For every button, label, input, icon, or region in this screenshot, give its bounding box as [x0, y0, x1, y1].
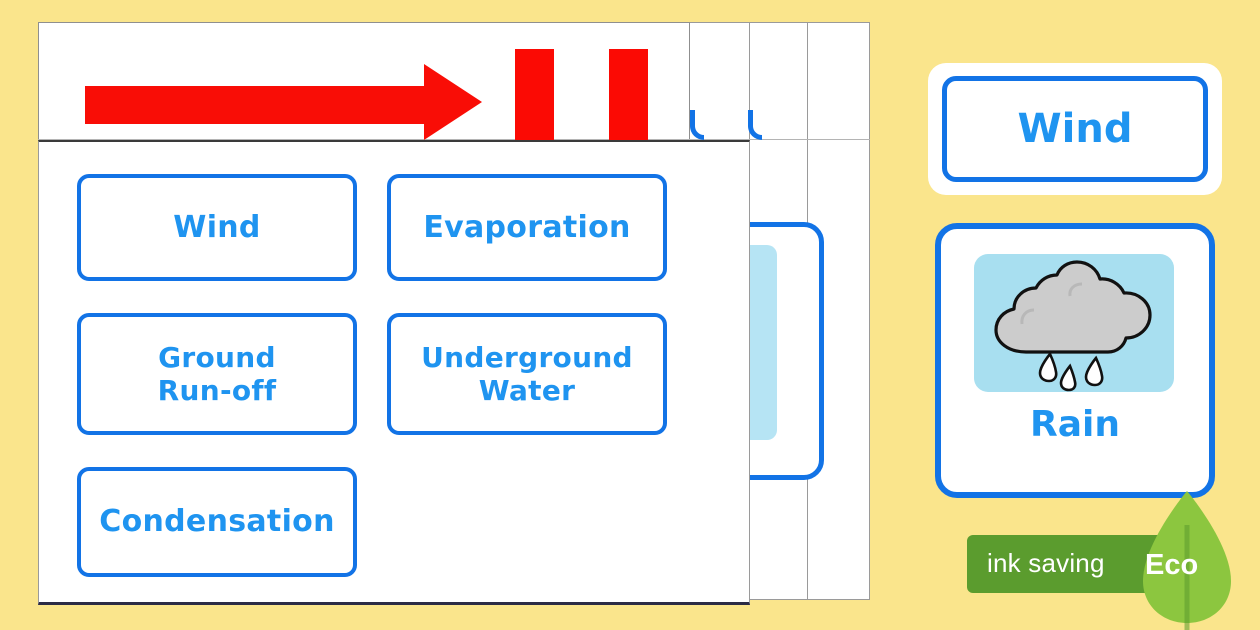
word-card-label: Ground Run-off [158, 341, 277, 407]
word-card-condensation[interactable]: Condensation [77, 467, 357, 577]
word-card-ground-run-off[interactable]: Ground Run-off [77, 313, 357, 435]
eco-badge: ink saving Eco [967, 535, 1215, 593]
red-bar-1 [515, 49, 554, 140]
word-card-label-line2: Water [479, 374, 575, 407]
word-card-label-line1: Underground [421, 341, 633, 374]
word-card-label: Condensation [99, 504, 334, 539]
preview-card-rain[interactable]: Rain [935, 223, 1215, 498]
word-card-wind[interactable]: Wind [77, 174, 357, 281]
screenshot-stage: Wind Evaporation Ground Run-off Undergro… [0, 0, 1260, 630]
eco-badge-leaf-text: Eco [1145, 549, 1198, 582]
word-card-label: Wind [173, 210, 260, 245]
word-card-underground-water[interactable]: Underground Water [387, 313, 667, 435]
word-card-label-line1: Ground [158, 341, 276, 374]
red-bar-2 [609, 49, 648, 140]
word-card-label-line2: Run-off [158, 374, 277, 407]
preview-card-wind-inner: Wind [942, 76, 1208, 182]
word-card-label: Evaporation [423, 210, 630, 245]
red-right-arrow-shaft [85, 86, 430, 124]
front-page-sheet[interactable]: Wind Evaporation Ground Run-off Undergro… [38, 140, 750, 605]
word-card-label: Underground Water [421, 341, 633, 407]
eco-badge-bar-text: ink saving [987, 548, 1105, 579]
preview-card-wind[interactable]: Wind [928, 63, 1222, 195]
preview-card-rain-label: Rain [941, 404, 1209, 445]
rain-cloud-icon [974, 254, 1174, 392]
word-card-evaporation[interactable]: Evaporation [387, 174, 667, 281]
preview-card-wind-label: Wind [1018, 106, 1133, 152]
red-right-arrow-head [424, 64, 482, 140]
